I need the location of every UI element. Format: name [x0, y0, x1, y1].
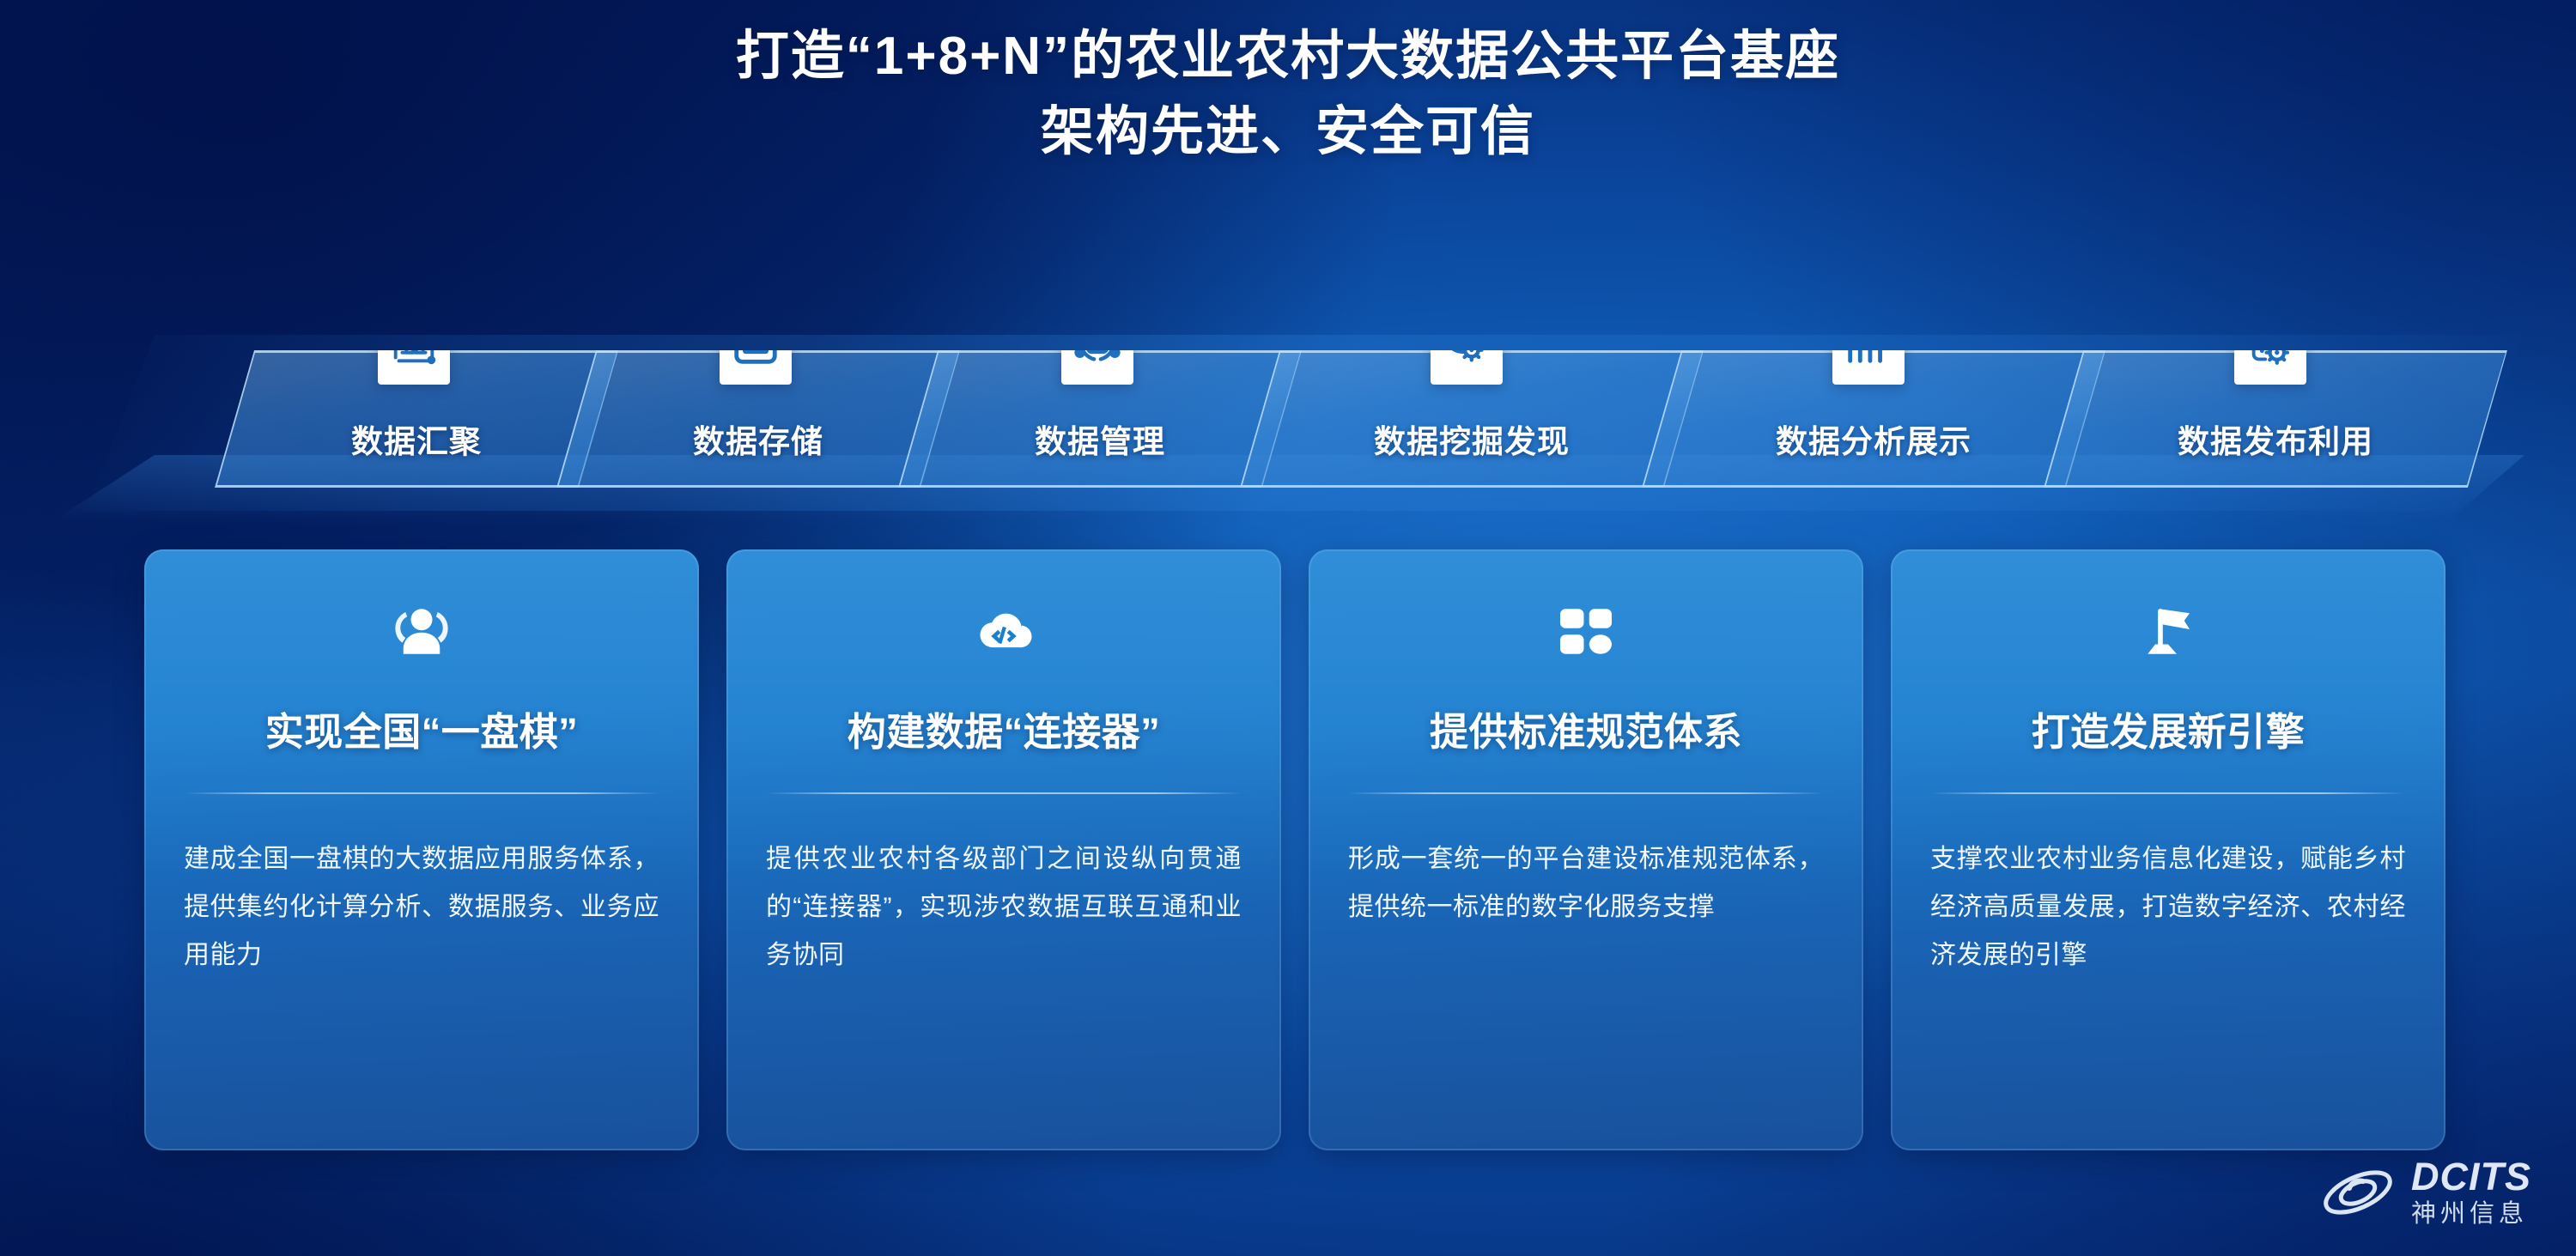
people-group-icon	[184, 598, 659, 670]
ribbon-segment-data-aggregation[interactable]: 数据汇聚	[215, 350, 618, 488]
ribbon-segment-data-analysis[interactable]: 数据分析展示	[1642, 350, 2105, 488]
feature-card-body: 支撑农业农村业务信息化建设，赋能乡村经济高质量发展，打造数字经济、农村经济发展的…	[1930, 835, 2406, 980]
feature-card-national-one-board[interactable]: 实现全国“一盘棋” 建成全国一盘棋的大数据应用服务体系，提供集约化计算分析、数据…	[144, 549, 699, 1150]
dcits-swoosh-icon	[2318, 1161, 2397, 1224]
segment-label: 数据挖掘发现	[1240, 416, 1704, 462]
feature-card-body: 提供农业农村各级部门之间设纵向贯通的“连接器”，实现涉农数据互联互通和业务协同	[766, 835, 1242, 980]
data-lifecycle-ribbon: 数据汇聚 数据存储	[0, 326, 2576, 515]
feature-card-divider	[184, 792, 659, 794]
logo-text-en: DCITS	[2411, 1157, 2531, 1196]
segment-label: 数据汇聚	[215, 416, 618, 462]
ribbon-segment-data-storage[interactable]: 数据存储	[556, 350, 960, 488]
segment-label: 数据存储	[556, 416, 960, 462]
ribbon-segment-data-management[interactable]: 数据管理	[898, 350, 1302, 488]
page-title-line-1: 打造“1+8+N”的农业农村大数据公共平台基座	[0, 19, 2576, 94]
page-title: 打造“1+8+N”的农业农村大数据公共平台基座 架构先进、安全可信	[0, 19, 2576, 170]
company-logo: DCITS 神州信息	[2318, 1157, 2531, 1227]
feature-card-title: 提供标准规范体系	[1348, 701, 1824, 756]
ribbon-segment-data-publishing[interactable]: 数据发布利用	[2044, 350, 2507, 488]
feature-card-divider	[1930, 792, 2406, 794]
feature-card-title: 构建数据“连接器”	[766, 701, 1242, 756]
cloud-code-icon	[766, 598, 1242, 670]
page-title-line-2: 架构先进、安全可信	[0, 94, 2576, 170]
segment-label: 数据发布利用	[2044, 416, 2507, 462]
feature-card-title: 打造发展新引擎	[1930, 701, 2406, 756]
segment-label: 数据分析展示	[1642, 416, 2105, 462]
feature-card-list: 实现全国“一盘棋” 建成全国一盘棋的大数据应用服务体系，提供集约化计算分析、数据…	[144, 549, 2445, 1150]
four-blocks-icon	[1348, 598, 1824, 670]
feature-card-divider	[766, 792, 1242, 794]
feature-card-divider	[1348, 792, 1824, 794]
feature-card-standard-system[interactable]: 提供标准规范体系 形成一套统一的平台建设标准规范体系，提供统一标准的数字化服务支…	[1309, 549, 1863, 1150]
ribbon-segment-data-mining[interactable]: 数据挖掘发现	[1240, 350, 1704, 488]
feature-card-new-engine[interactable]: 打造发展新引擎 支撑农业农村业务信息化建设，赋能乡村经济高质量发展，打造数字经济…	[1891, 549, 2445, 1150]
flag-icon	[1930, 598, 2406, 670]
feature-card-data-connector[interactable]: 构建数据“连接器” 提供农业农村各级部门之间设纵向贯通的“连接器”，实现涉农数据…	[726, 549, 1281, 1150]
logo-text-cn: 神州信息	[2411, 1202, 2531, 1227]
logo-text: DCITS 神州信息	[2411, 1157, 2531, 1227]
feature-card-title: 实现全国“一盘棋”	[184, 701, 659, 756]
segment-label: 数据管理	[898, 416, 1302, 462]
feature-card-body: 形成一套统一的平台建设标准规范体系，提供统一标准的数字化服务支撑	[1348, 835, 1824, 931]
feature-card-body: 建成全国一盘棋的大数据应用服务体系，提供集约化计算分析、数据服务、业务应用能力	[184, 835, 659, 980]
